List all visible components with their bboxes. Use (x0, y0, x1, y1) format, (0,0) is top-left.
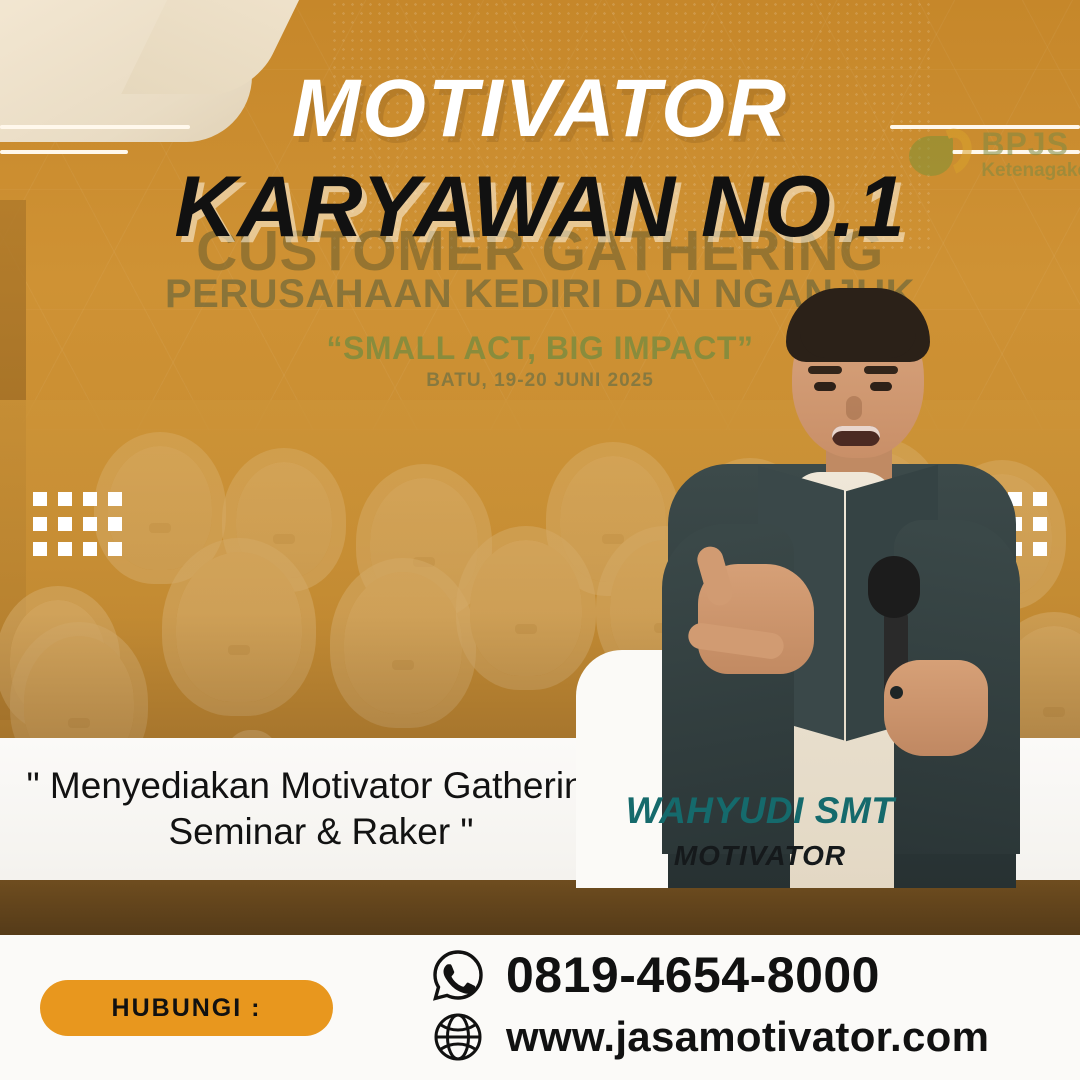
tagline-text: " Menyediakan Motivator Gathering, Semin… (0, 763, 620, 856)
globe-icon (432, 1011, 484, 1063)
microphone-icon (868, 556, 920, 618)
headline-line-2: KARYAWAN NO.1 (0, 158, 1080, 257)
contact-details: 0819-4654-8000 www.jasamotivator.com (432, 944, 989, 1068)
phone-number: 0819-4654-8000 (506, 946, 880, 1004)
website-url: www.jasamotivator.com (506, 1013, 989, 1061)
speaker-name: WAHYUDI SMT (576, 790, 944, 832)
dot-grid-left (33, 492, 122, 556)
contact-phone-row[interactable]: 0819-4654-8000 (432, 944, 989, 1006)
poster-canvas: CUSTOMER GATHERING PERUSAHAAN KEDIRI DAN… (0, 0, 1080, 1080)
headline-line-1: MOTIVATOR (0, 62, 1080, 156)
speaker-name-block: WAHYUDI SMT MOTIVATOR (576, 790, 944, 872)
contact-website-row[interactable]: www.jasamotivator.com (432, 1006, 989, 1068)
contact-cta-badge[interactable]: HUBUNGI : (40, 980, 333, 1036)
whatsapp-phone-icon (432, 949, 484, 1001)
speaker-role: MOTIVATOR (576, 840, 944, 872)
